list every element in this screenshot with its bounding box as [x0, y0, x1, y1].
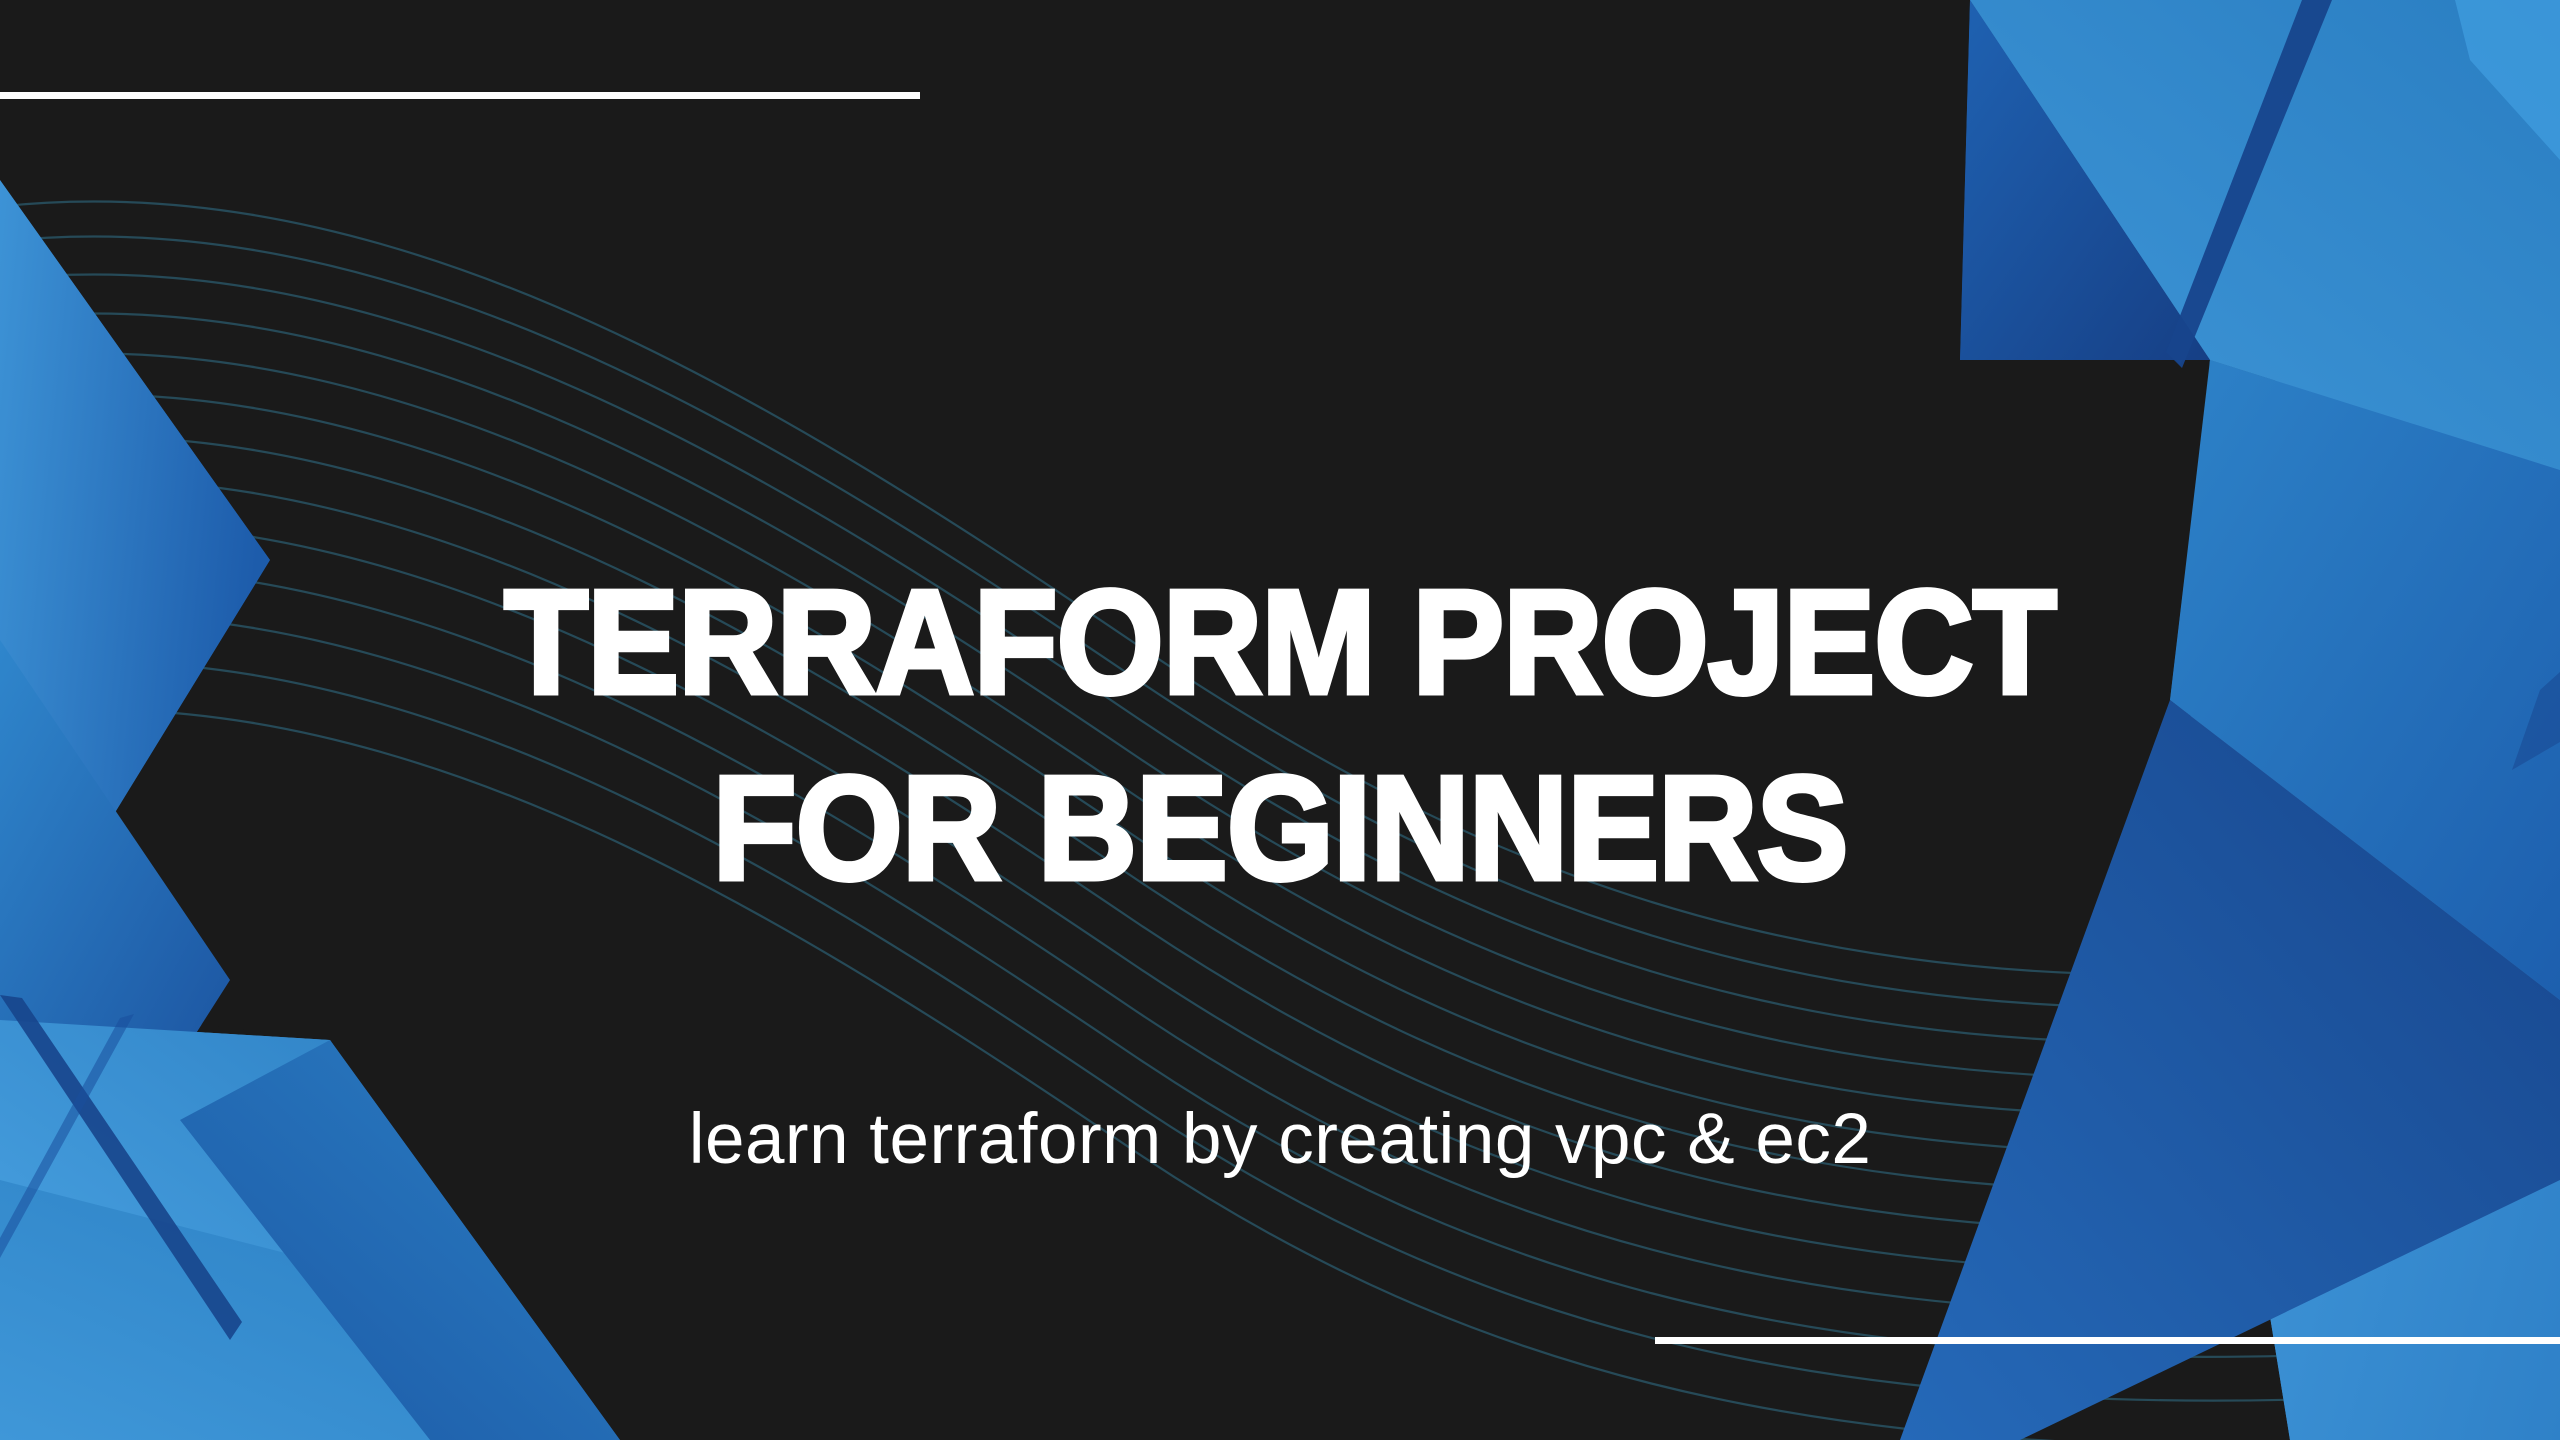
foreground-polygons: [0, 0, 2560, 1440]
presentation-slide: TERRAFORM PROJECT FOR BEGINNERS learn te…: [0, 0, 2560, 1440]
bottom-divider-line: [1655, 1337, 2560, 1344]
top-divider-line: [0, 92, 920, 99]
foreground-polygon-svg: [0, 0, 2560, 1440]
